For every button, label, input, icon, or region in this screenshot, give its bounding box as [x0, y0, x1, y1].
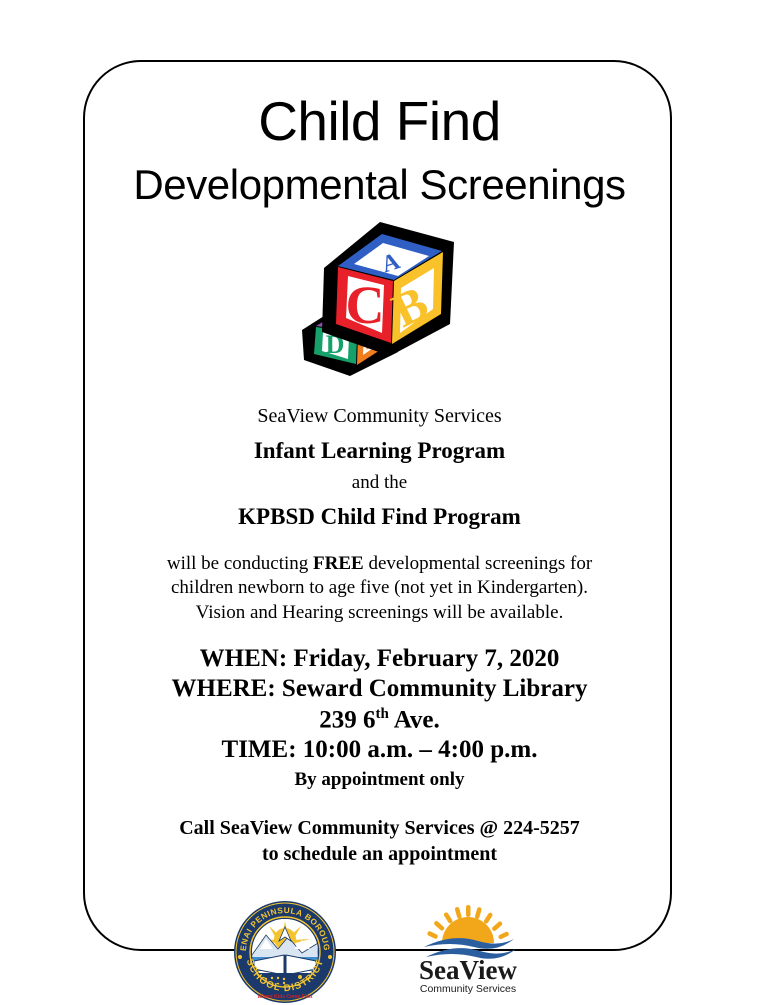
free-emphasis: FREE	[313, 553, 364, 574]
address-street: Ave.	[389, 706, 440, 733]
description-paragraph: will be conducting FREE developmental sc…	[99, 552, 660, 626]
kpbsd-seal-icon: KENAI PENINSULA BOROUGH SCHOOL DISTRICT …	[232, 899, 338, 1005]
program-name-1: Infant Learning Program	[99, 436, 660, 466]
paragraph-line2: children newborn to age five (not yet in…	[171, 577, 588, 598]
program-name-2: KPBSD Child Find Program	[99, 502, 660, 532]
paragraph-line3: Vision and Hearing screenings will be av…	[196, 602, 564, 623]
event-when: WHEN: Friday, February 7, 2020	[99, 644, 660, 675]
organization-name: SeaView Community Services	[99, 404, 660, 429]
paragraph-line1-pre: will be conducting	[167, 553, 313, 574]
address-ordinal: th	[375, 706, 388, 722]
event-address: 239 6th Ave.	[99, 705, 660, 736]
page-subtitle: Developmental Screenings	[99, 149, 660, 206]
paragraph-line1-post: developmental screenings for	[364, 553, 592, 574]
kpbsd-tagline: Where Kids Come First	[257, 994, 312, 1000]
flyer-content: Child Find Developmental Screenings	[85, 62, 674, 953]
sun-rays	[426, 905, 509, 943]
seaview-logo-icon: SeaView Community Services	[408, 903, 528, 995]
page-title: Child Find	[99, 62, 660, 149]
call-phone-line: Call SeaView Community Services @ 224-52…	[99, 815, 660, 841]
appointment-note: By appointment only	[99, 768, 660, 791]
address-number: 239 6	[319, 706, 375, 733]
logo-row: KENAI PENINSULA BOROUGH SCHOOL DISTRICT …	[99, 899, 660, 1005]
call-schedule-line: to schedule an appointment	[99, 841, 660, 867]
svg-text:C: C	[345, 275, 384, 335]
alphabet-blocks-icon: D E F C	[294, 220, 466, 380]
event-where: WHERE: Seward Community Library	[99, 674, 660, 705]
blocks-illustration-wrap: D E F C	[99, 220, 660, 380]
event-time: TIME: 10:00 a.m. – 4:00 p.m.	[99, 735, 660, 766]
flyer-border-frame: Child Find Developmental Screenings	[83, 60, 672, 951]
event-details: WHEN: Friday, February 7, 2020 WHERE: Se…	[99, 644, 660, 792]
seaview-subtitle: Community Services	[419, 983, 515, 995]
conjunction-text: and the	[99, 471, 660, 495]
body-area: SeaView Community Services Infant Learni…	[99, 404, 660, 867]
seaview-title: SeaView	[419, 955, 517, 985]
call-to-action: Call SeaView Community Services @ 224-52…	[99, 815, 660, 867]
big-block: C B A	[322, 222, 454, 356]
